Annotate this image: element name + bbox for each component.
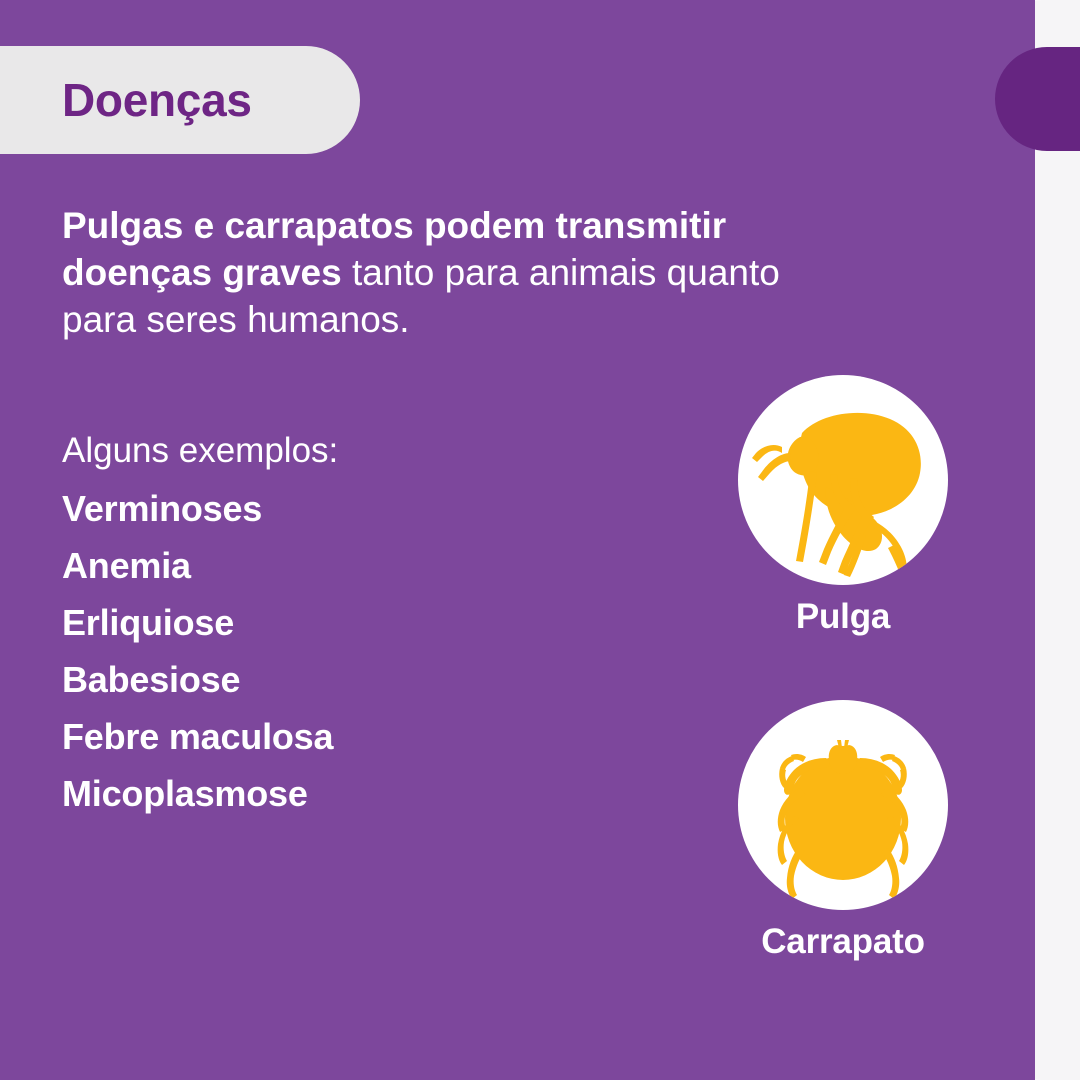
list-item: Verminoses [62, 491, 682, 527]
flea-caption: Pulga [738, 599, 948, 634]
page-title: Doenças [62, 77, 252, 123]
examples-lead-label: Alguns exemplos: [62, 432, 682, 471]
tick-icon-circle [738, 700, 948, 910]
flea-badge: Pulga [738, 375, 948, 634]
list-item: Anemia [62, 548, 682, 584]
flea-icon-circle [738, 375, 948, 585]
tick-badge: Carrapato [738, 700, 948, 959]
list-item: Erliquiose [62, 605, 682, 641]
list-item: Micoplasmose [62, 776, 682, 812]
tick-icon [738, 700, 948, 910]
flea-icon [738, 375, 948, 585]
tick-caption: Carrapato [738, 924, 948, 959]
slide-canvas: Doenças Pulgas e carrapatos podem transm… [0, 0, 1080, 1080]
list-item: Babesiose [62, 662, 682, 698]
intro-paragraph: Pulgas e carrapatos podem transmitir doe… [62, 203, 862, 344]
list-item: Febre maculosa [62, 719, 682, 755]
examples-block: Alguns exemplos: Verminoses Anemia Erliq… [62, 432, 682, 833]
section-header-pill: Doenças [0, 46, 360, 154]
